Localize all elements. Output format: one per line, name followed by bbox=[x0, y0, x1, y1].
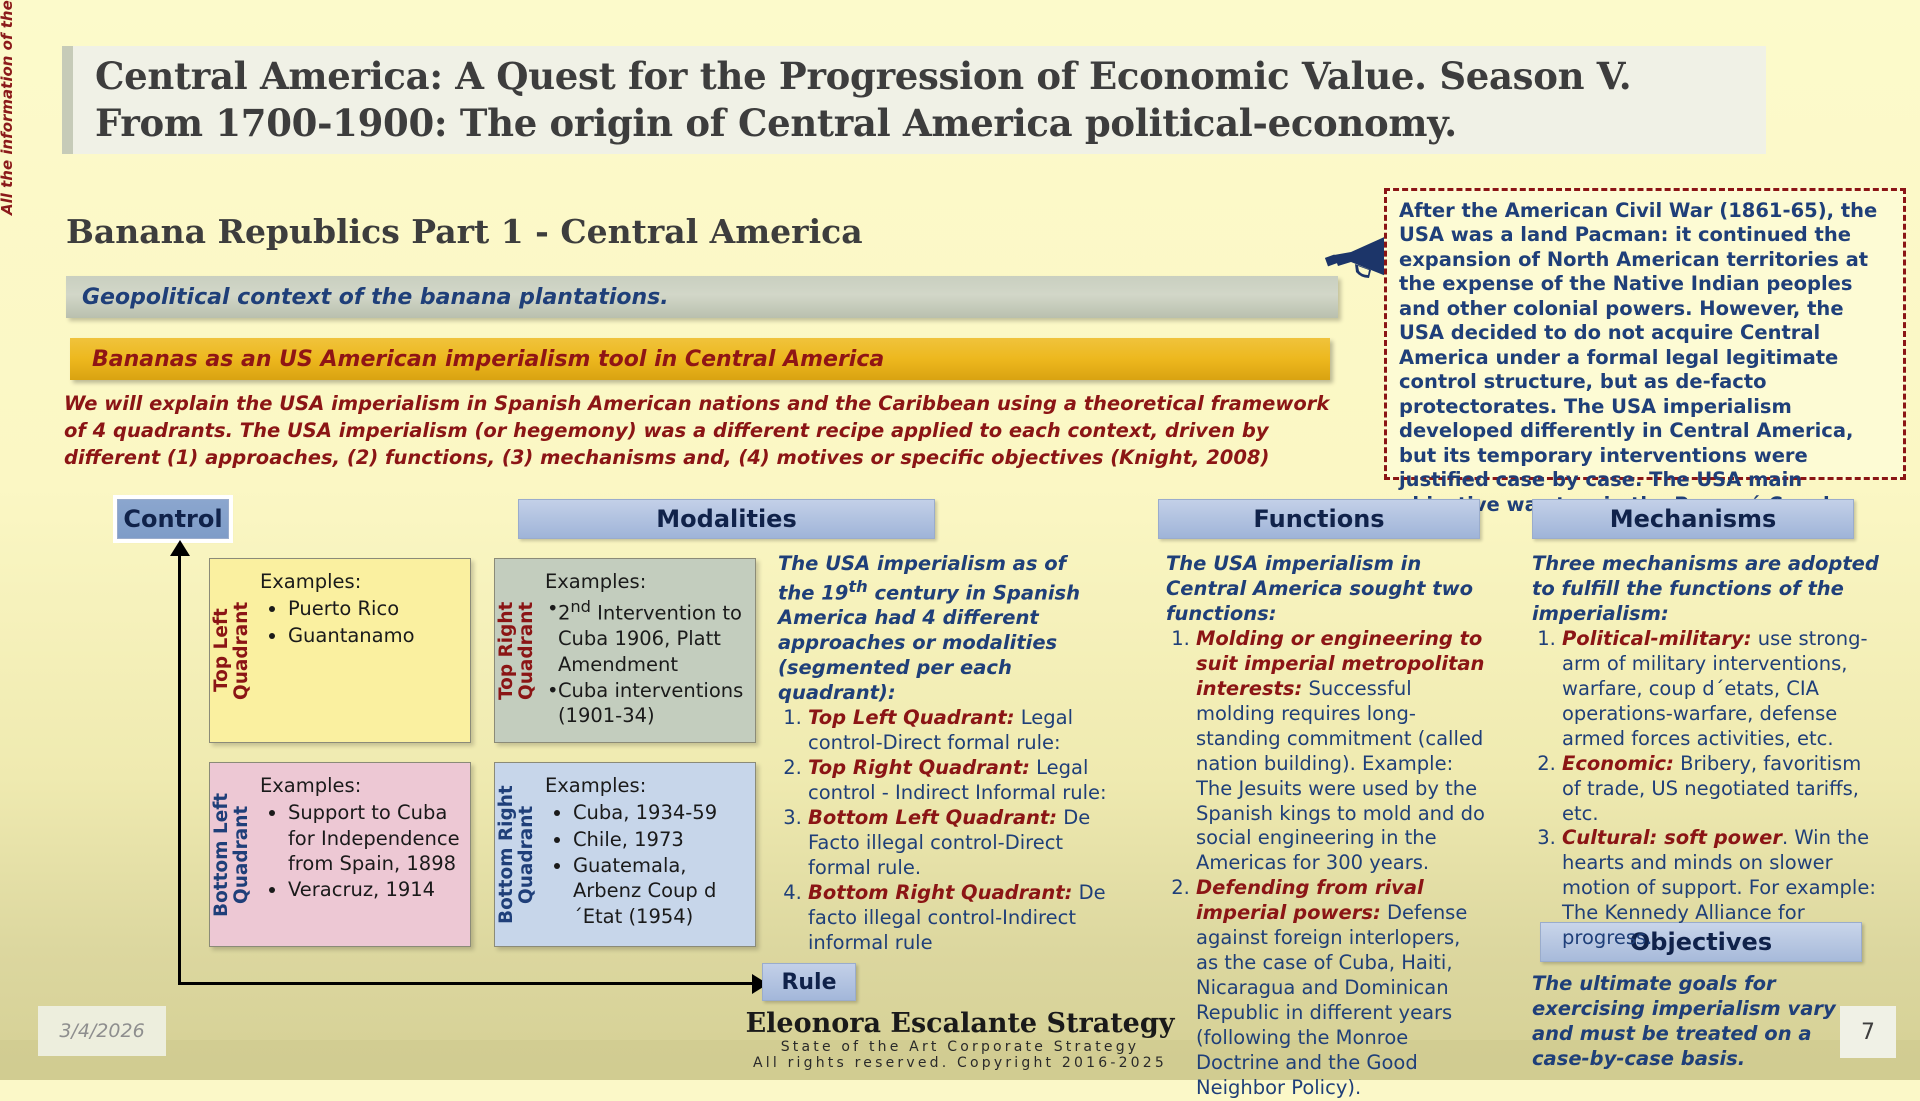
callout-box: After the American Civil War (1861-65), … bbox=[1384, 188, 1906, 480]
modalities-lead: The USA imperialism as of the 19th centu… bbox=[778, 552, 1108, 706]
list-item: Top Left Quadrant: Legal control-Direct … bbox=[808, 706, 1108, 756]
subtitle-grey-bar: Geopolitical context of the banana plant… bbox=[66, 276, 1338, 318]
functions-lead: The USA imperialism in Central America s… bbox=[1166, 552, 1486, 627]
list-item: Cuba interventions (1901-34) bbox=[558, 678, 747, 729]
column-header-modalities: Modalities bbox=[518, 499, 935, 539]
quadrant-bottom-right-body: Examples: Cuba, 1934-59Chile, 1973Guatem… bbox=[543, 763, 755, 946]
list-item: Molding or engineering to suit imperial … bbox=[1196, 627, 1486, 877]
quadrant-top-right-body: Examples: 2nd Intervention to Cuba 1906,… bbox=[543, 559, 755, 742]
footer-brand: Eleonora Escalante Strategy State of the… bbox=[0, 1008, 1920, 1071]
list-item: Puerto Rico bbox=[288, 596, 462, 621]
list-item: Guantanamo bbox=[288, 623, 462, 648]
slide-title-box: Central America: A Quest for the Progres… bbox=[62, 46, 1766, 154]
subtitle-gold-bar: Bananas as an US American imperialism to… bbox=[70, 338, 1330, 380]
list-item: Economic: Bribery, favoritism of trade, … bbox=[1562, 752, 1882, 827]
intro-paragraph: We will explain the USA imperialism in S… bbox=[64, 390, 1354, 471]
quadrant-bottom-left: Bottom Left Quadrant Examples: Support t… bbox=[209, 762, 471, 947]
y-axis-arrow-icon bbox=[170, 540, 190, 556]
subtitle-gold-bar-label: Bananas as an US American imperialism to… bbox=[70, 347, 884, 372]
title-line-1: Central America: A Quest for the Progres… bbox=[95, 53, 1631, 100]
examples-list: Cuba, 1934-59Chile, 1973Guatemala, Arben… bbox=[545, 800, 747, 929]
list-item: Guatemala, Arbenz Coup d´Etat (1954) bbox=[573, 853, 747, 929]
quadrant-top-right-label: Top Right Quadrant bbox=[495, 559, 543, 742]
column-mechanisms: Three mechanisms are adopted to fulfill … bbox=[1532, 552, 1882, 951]
bibliography-side-note: All the information of these slides is s… bbox=[0, 0, 16, 215]
page-title: Central America: A Quest for the Progres… bbox=[73, 53, 1631, 148]
list-item: Veracruz, 1914 bbox=[288, 877, 462, 902]
column-header-functions: Functions bbox=[1158, 499, 1480, 539]
mechanisms-lead: Three mechanisms are adopted to fulfill … bbox=[1532, 552, 1882, 627]
title-line-2: From 1700-1900: The origin of Central Am… bbox=[95, 100, 1631, 147]
mechanisms-list: Political-military: use strong-arm of mi… bbox=[1532, 627, 1882, 951]
section-heading: Banana Republics Part 1 - Central Americ… bbox=[66, 212, 863, 251]
quadrant-bottom-right-label: Bottom Right Quadrant bbox=[495, 763, 543, 946]
list-item: Support to Cuba for Independence from Sp… bbox=[288, 800, 462, 876]
list-item: Cultural: soft power. Win the hearts and… bbox=[1562, 826, 1882, 951]
list-item: 2nd Intervention to Cuba 1906, Platt Ame… bbox=[558, 596, 747, 677]
quadrant-bottom-left-label: Bottom Left Quadrant bbox=[210, 763, 258, 946]
examples-list: Puerto RicoGuantanamo bbox=[260, 596, 462, 648]
x-axis-line bbox=[178, 982, 758, 985]
quadrant-bottom-right: Bottom Right Quadrant Examples: Cuba, 19… bbox=[494, 762, 756, 947]
column-modalities: The USA imperialism as of the 19th centu… bbox=[778, 552, 1108, 956]
callout-text: After the American Civil War (1861-65), … bbox=[1399, 199, 1893, 542]
examples-list: Support to Cuba for Independence from Sp… bbox=[260, 800, 462, 902]
date-box: 3/4/2026 bbox=[38, 1006, 166, 1056]
quadrant-top-left: Top Left Quadrant Examples: Puerto RicoG… bbox=[209, 558, 471, 743]
list-item: Chile, 1973 bbox=[573, 827, 747, 852]
quadrant-top-left-label: Top Left Quadrant bbox=[210, 559, 258, 742]
brand-name: Eleonora Escalante Strategy bbox=[0, 1008, 1920, 1039]
list-item: Bottom Right Quadrant: De facto illegal … bbox=[808, 881, 1108, 956]
y-axis-line bbox=[178, 548, 181, 985]
list-item: Bottom Left Quadrant: De Facto illegal c… bbox=[808, 806, 1108, 881]
axis-label-control: Control bbox=[117, 499, 229, 539]
brand-copyright: All rights reserved. Copyright 2016-2025 bbox=[0, 1055, 1920, 1071]
brand-tagline: State of the Art Corporate Strategy bbox=[0, 1039, 1920, 1055]
list-item: Cuba, 1934-59 bbox=[573, 800, 747, 825]
subtitle-grey-bar-label: Geopolitical context of the banana plant… bbox=[66, 285, 669, 310]
modalities-list: Top Left Quadrant: Legal control-Direct … bbox=[778, 706, 1108, 956]
examples-title: Examples: bbox=[260, 569, 462, 594]
examples-title: Examples: bbox=[260, 773, 462, 798]
quadrant-top-left-body: Examples: Puerto RicoGuantanamo bbox=[258, 559, 470, 742]
examples-title: Examples: bbox=[545, 569, 747, 594]
quadrant-top-right: Top Right Quadrant Examples: 2nd Interve… bbox=[494, 558, 756, 743]
slide-canvas: All the information of these slides is s… bbox=[0, 0, 1920, 1080]
examples-list: 2nd Intervention to Cuba 1906, Platt Ame… bbox=[545, 596, 747, 728]
page-number: 7 bbox=[1840, 1006, 1896, 1058]
examples-title: Examples: bbox=[545, 773, 747, 798]
list-item: Top Right Quadrant: Legal control - Indi… bbox=[808, 756, 1108, 806]
column-header-mechanisms: Mechanisms bbox=[1532, 499, 1854, 539]
list-item: Political-military: use strong-arm of mi… bbox=[1562, 627, 1882, 752]
quadrant-bottom-left-body: Examples: Support to Cuba for Independen… bbox=[258, 763, 470, 946]
axis-label-rule: Rule bbox=[762, 963, 856, 1001]
